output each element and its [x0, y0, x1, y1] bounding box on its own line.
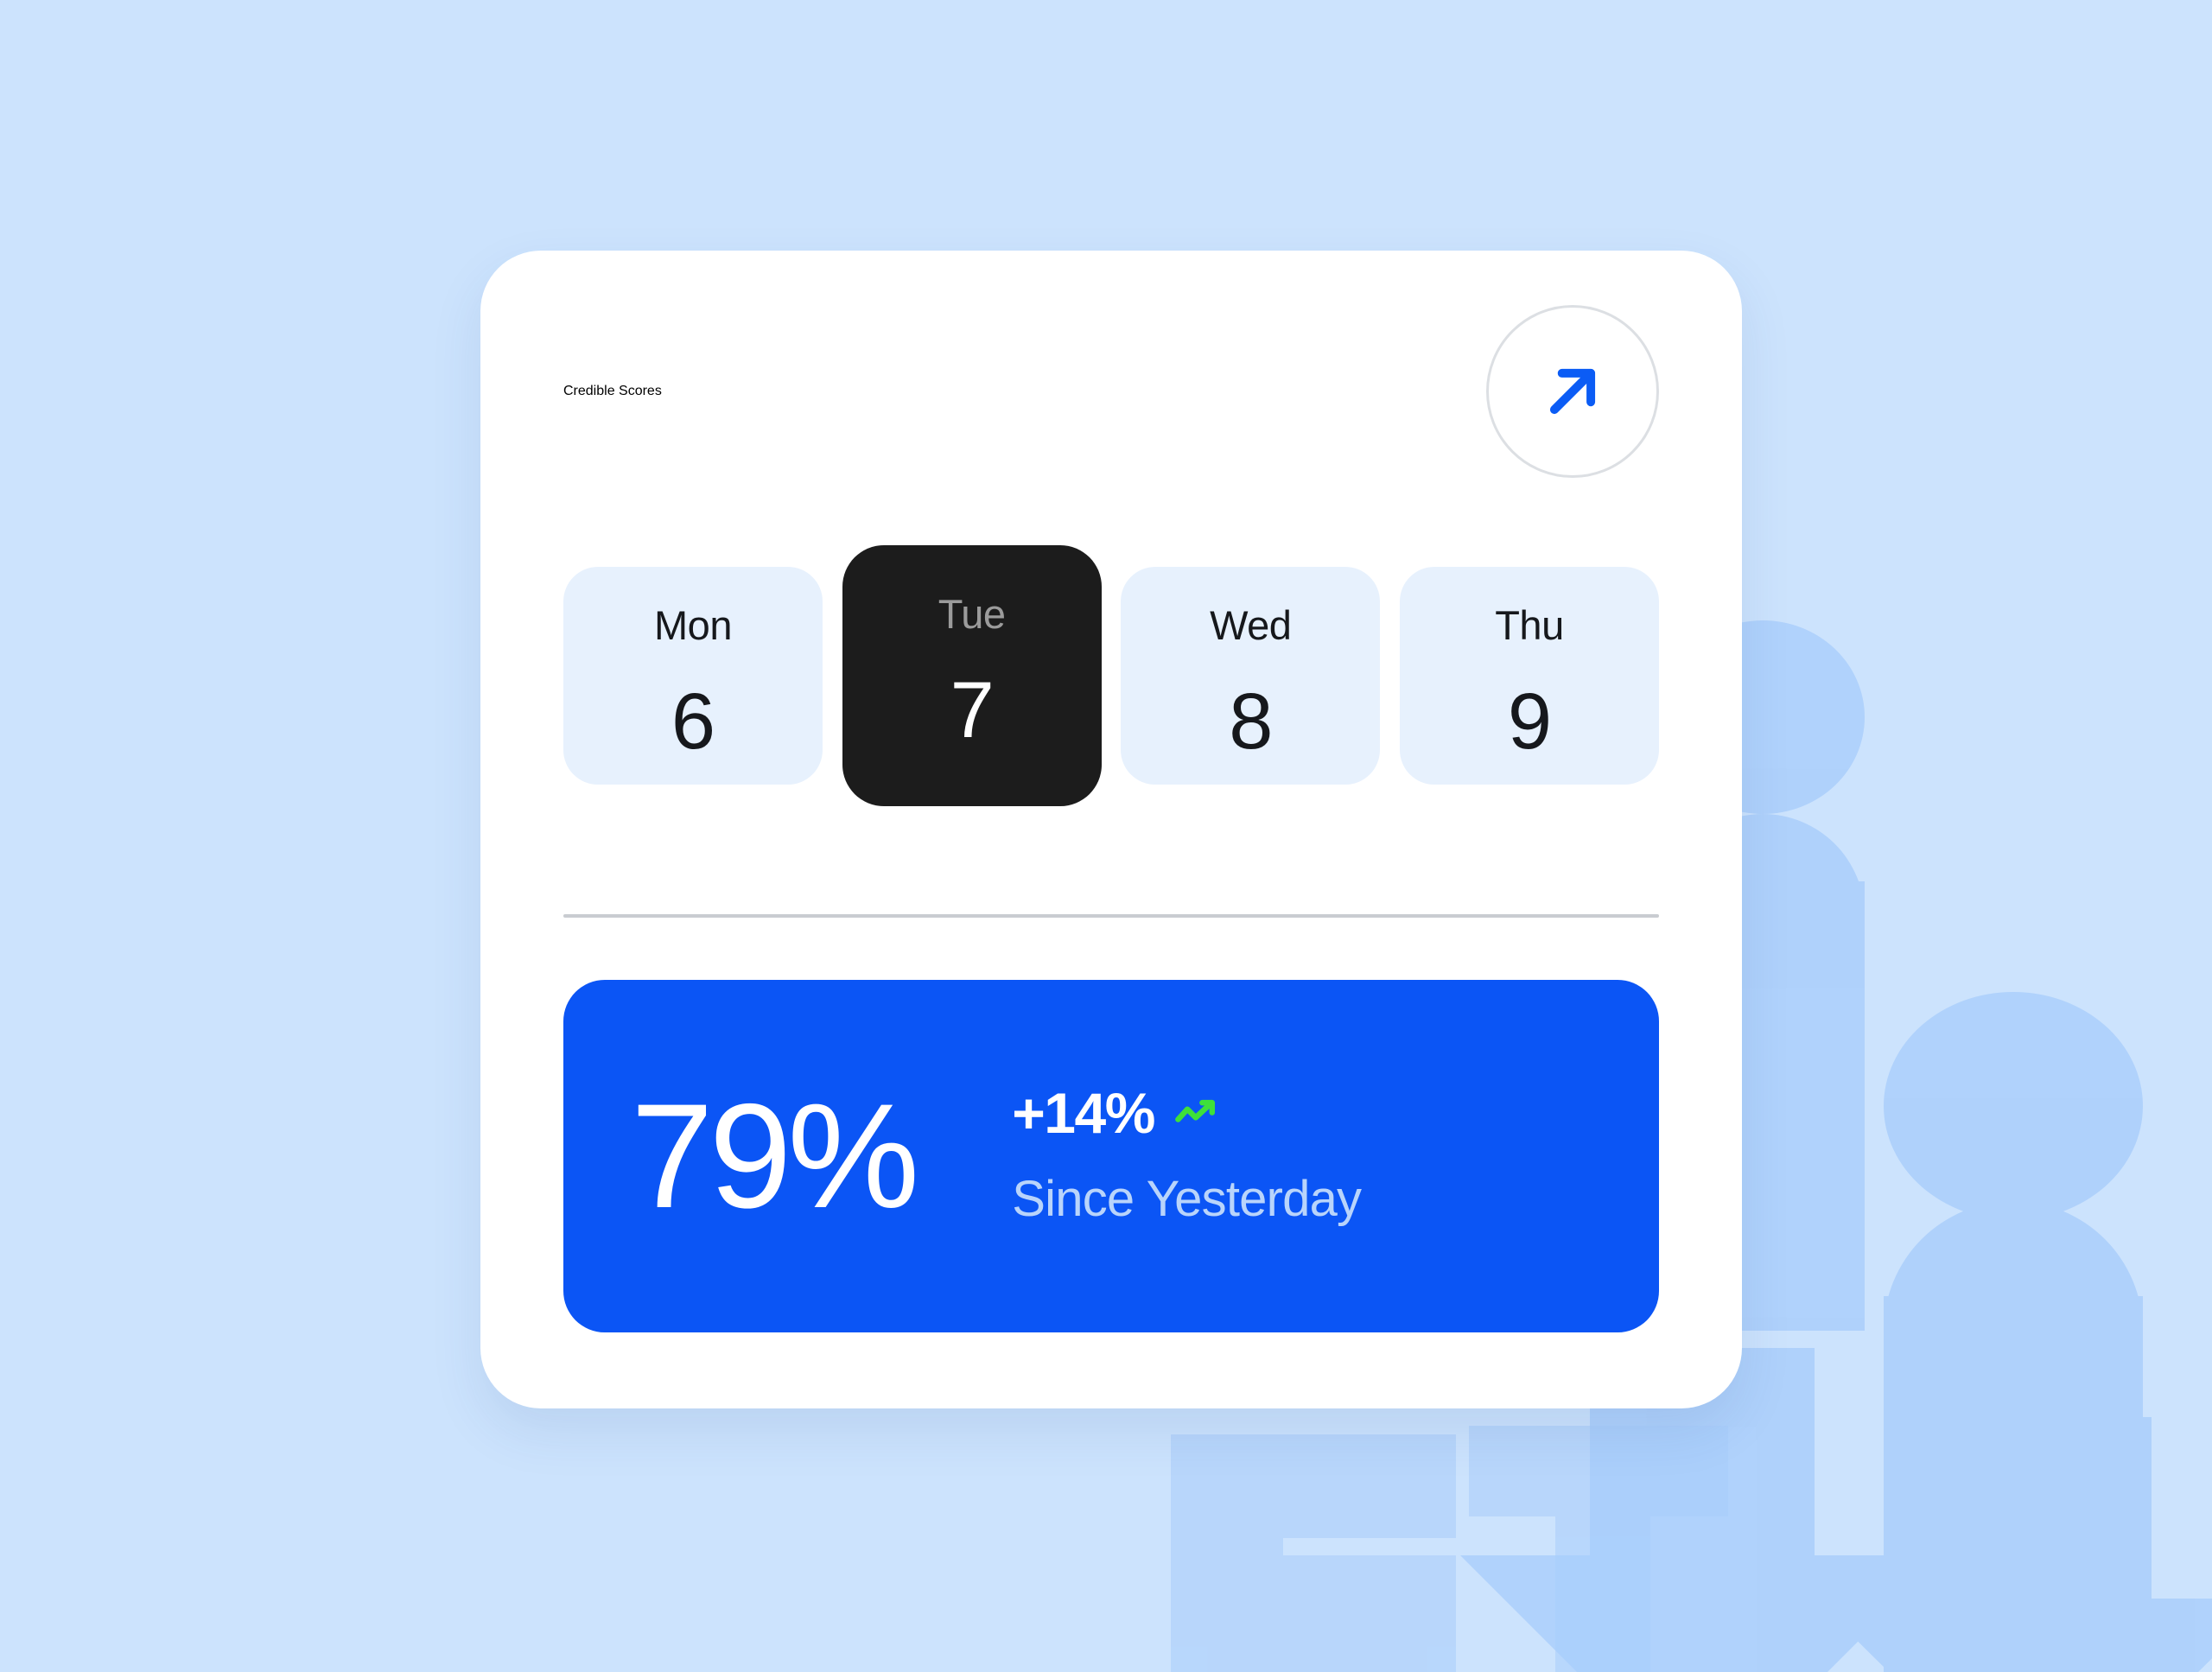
score-delta-group: +14% Since Yesterday — [1012, 1084, 1361, 1228]
expand-button[interactable] — [1486, 305, 1659, 478]
day-selector-strip: Mon 6 Tue 7 Wed 8 Thu 9 — [563, 555, 1659, 797]
delta-value: +14% — [1012, 1084, 1154, 1141]
delta-row: +14% — [1012, 1084, 1361, 1141]
day-card-tue[interactable]: Tue 7 — [842, 545, 1102, 806]
day-card-thu[interactable]: Thu 9 — [1400, 567, 1659, 785]
card-header: Credible Scores — [563, 335, 1659, 448]
decor-shape — [1469, 1426, 1728, 1672]
day-number: 7 — [950, 671, 994, 750]
score-stat-panel[interactable]: 79% +14% Since Yesterday — [563, 980, 1659, 1332]
page-title: Credible Scores — [563, 384, 662, 399]
day-number: 8 — [1229, 682, 1272, 761]
delta-caption: Since Yesterday — [1012, 1174, 1361, 1224]
divider — [563, 914, 1659, 918]
day-label: Thu — [1495, 605, 1564, 645]
day-label: Tue — [938, 594, 1006, 634]
day-label: Wed — [1210, 605, 1291, 645]
down-arrow-icon — [1815, 1417, 2212, 1672]
day-number: 9 — [1508, 682, 1551, 761]
arrow-up-right-icon — [1533, 352, 1612, 431]
day-card-mon[interactable]: Mon 6 — [563, 567, 823, 785]
day-label: Mon — [654, 605, 732, 645]
day-card-wed[interactable]: Wed 8 — [1121, 567, 1380, 785]
day-number: 6 — [671, 682, 715, 761]
person-icon — [1884, 992, 2143, 1672]
decor-shape — [1171, 1434, 1456, 1672]
credible-scores-card: Credible Scores Mon 6 Tue 7 Wed 8 Thu 9 — [480, 251, 1742, 1408]
score-primary-value: 79% — [631, 1082, 915, 1230]
trending-up-icon — [1173, 1096, 1222, 1130]
